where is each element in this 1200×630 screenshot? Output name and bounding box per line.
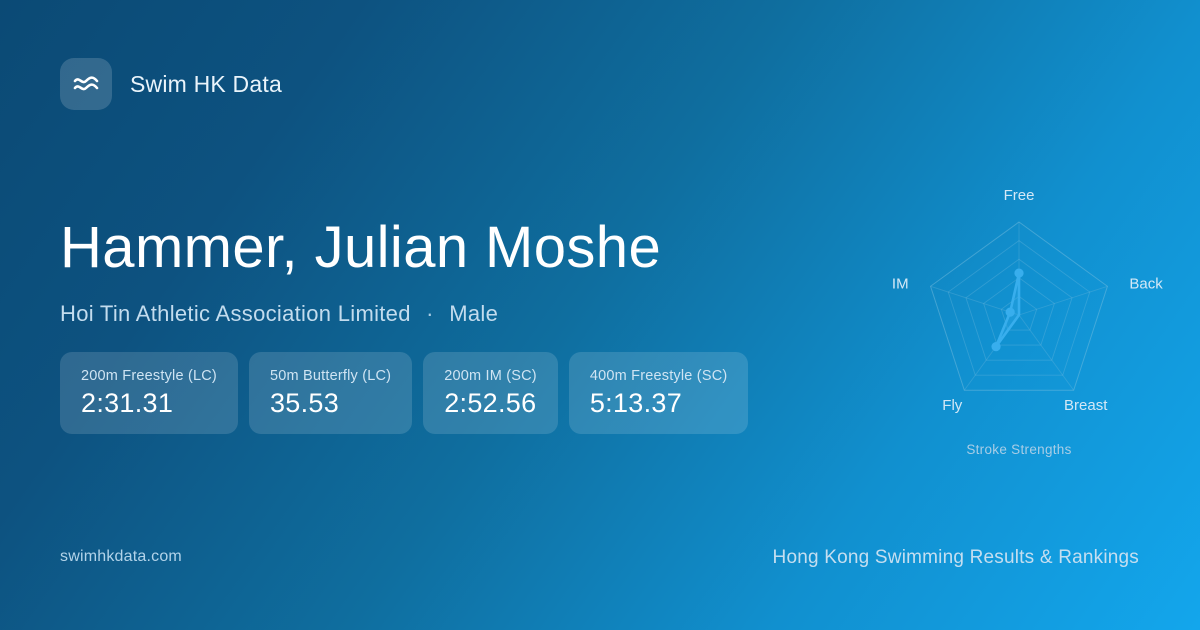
stat-card-list: 200m Freestyle (LC) 2:31.31 50m Butterfl…	[60, 352, 748, 434]
stat-card[interactable]: 50m Butterfly (LC) 35.53	[249, 352, 412, 434]
radar-axis-label-im: IM	[892, 275, 909, 292]
radar-axis-label-back: Back	[1129, 275, 1163, 292]
athlete-header: Hammer, Julian Moshe Hoi Tin Athletic As…	[60, 218, 661, 327]
stroke-strengths-radar-chart: FreeBackBreastFlyIM	[869, 170, 1169, 470]
footer-site-url[interactable]: swimhkdata.com	[60, 548, 182, 566]
stat-label: 50m Butterfly (LC)	[270, 368, 391, 384]
athlete-gender: Male	[449, 301, 498, 326]
stat-value: 2:52.56	[444, 389, 537, 417]
footer-tagline: Hong Kong Swimming Results & Rankings	[773, 547, 1139, 569]
stat-value: 35.53	[270, 389, 391, 417]
athlete-meta: Hoi Tin Athletic Association Limited · M…	[60, 301, 661, 327]
wave-icon	[60, 58, 112, 110]
stat-label: 200m IM (SC)	[444, 368, 537, 384]
radar-axis-label-free: Free	[1004, 187, 1035, 204]
stat-label: 200m Freestyle (LC)	[81, 368, 217, 384]
stat-card[interactable]: 400m Freestyle (SC) 5:13.37	[569, 352, 749, 434]
radar-axis-label-breast: Breast	[1064, 397, 1108, 414]
athlete-club: Hoi Tin Athletic Association Limited	[60, 301, 411, 326]
chart-caption: Stroke Strengths	[869, 442, 1169, 457]
page-title: Hammer, Julian Moshe	[60, 218, 661, 279]
meta-separator: ·	[426, 301, 434, 326]
radar-axis-label-fly: Fly	[942, 397, 962, 414]
brand-name: Swim HK Data	[130, 71, 282, 98]
stat-value: 5:13.37	[590, 389, 728, 417]
brand[interactable]: Swim HK Data	[60, 58, 282, 110]
stat-value: 2:31.31	[81, 389, 217, 417]
stat-label: 400m Freestyle (SC)	[590, 368, 728, 384]
stat-card[interactable]: 200m Freestyle (LC) 2:31.31	[60, 352, 238, 434]
stat-card[interactable]: 200m IM (SC) 2:52.56	[423, 352, 558, 434]
